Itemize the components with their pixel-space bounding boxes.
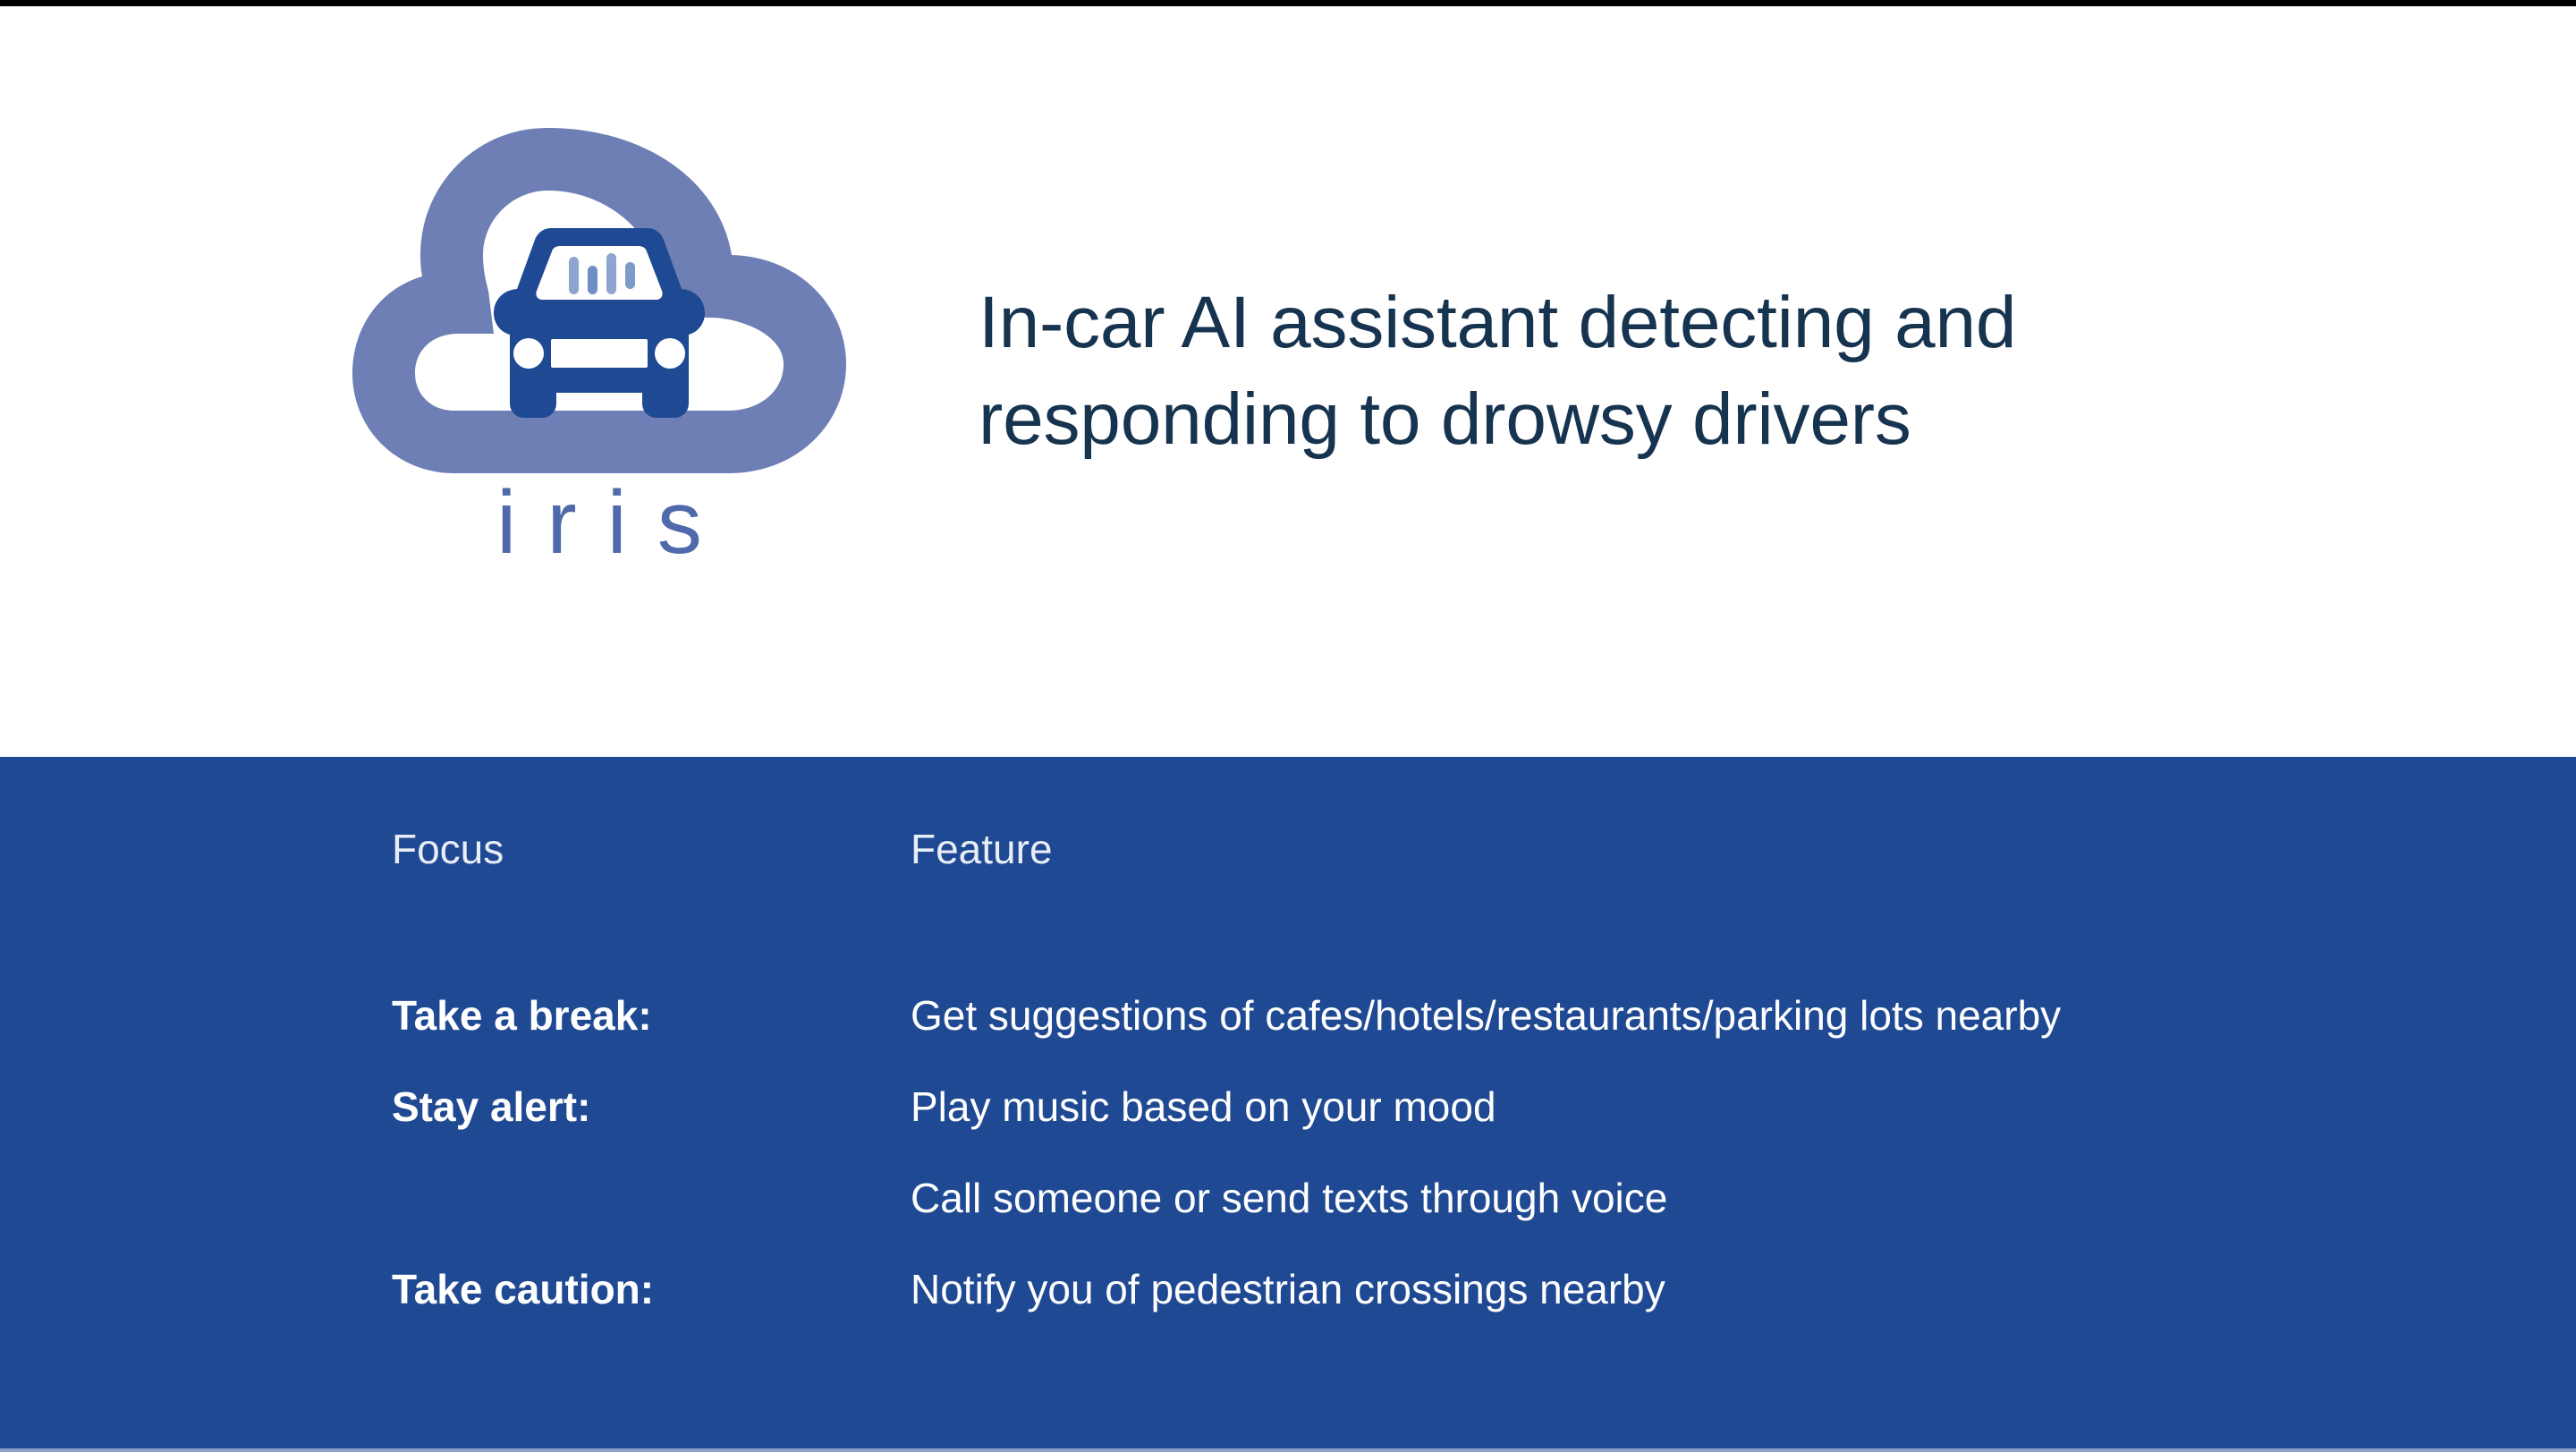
feature-label: Play music based on your mood — [911, 1083, 2485, 1131]
bottom-accent-rule — [0, 1448, 2576, 1452]
feature-label: Call someone or send texts through voice — [911, 1175, 2485, 1222]
feature-label: Get suggestions of cafes/hotels/restaura… — [911, 992, 2485, 1040]
page-title: In-car AI assistant detecting and respon… — [979, 275, 2428, 468]
table-row: Take caution: Notify you of pedestrian c… — [0, 1266, 2576, 1316]
cloud-icon — [340, 105, 859, 480]
iris-logo-lockup: iris — [340, 105, 859, 615]
hero-section: iris In-car AI assistant detecting and r… — [0, 6, 2576, 757]
table-header-row: Focus Feature — [0, 827, 2576, 880]
table-row: Take a break: Get suggestions of cafes/h… — [0, 992, 2576, 1042]
focus-label: Take a break: — [392, 992, 893, 1040]
table-row: Stay alert: Play music based on your moo… — [0, 1083, 2576, 1134]
headline-line-1: In-car AI assistant detecting and — [979, 275, 2428, 371]
features-table: Focus Feature Take a break: Get suggesti… — [0, 757, 2576, 1448]
table-row: Call someone or send texts through voice — [0, 1175, 2576, 1225]
iris-wordmark: iris — [340, 473, 859, 572]
headline-line-2: responding to drowsy drivers — [979, 371, 2428, 468]
top-black-rule — [0, 0, 2576, 6]
feature-label: Notify you of pedestrian crossings nearb… — [911, 1266, 2485, 1313]
focus-label: Take caution: — [392, 1266, 893, 1313]
column-header-focus-label: Focus — [392, 827, 893, 872]
focus-label: Stay alert: — [392, 1083, 893, 1131]
column-header-focus: Focus — [392, 827, 893, 872]
column-header-feature-label: Feature — [911, 827, 2431, 872]
slide-root: iris In-car AI assistant detecting and r… — [0, 0, 2576, 1452]
column-header-feature: Feature — [911, 827, 2431, 872]
